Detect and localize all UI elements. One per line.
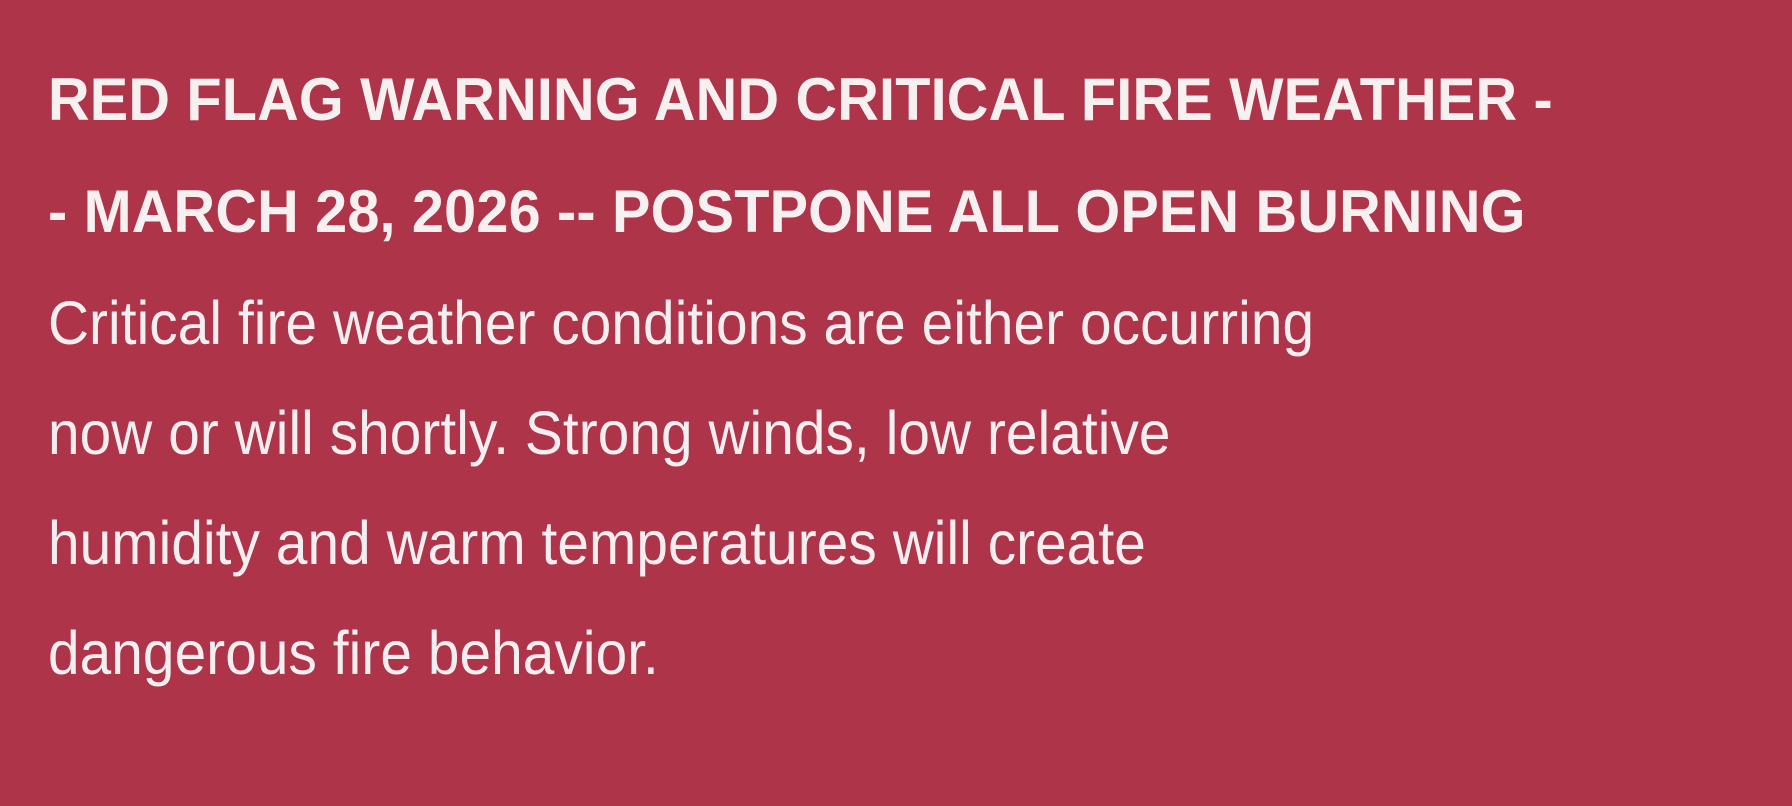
alert-headline-line-2: - MARCH 28, 2026 -- POSTPONE ALL OPEN BU… bbox=[48, 156, 1680, 268]
alert-body-text: Critical fire weather conditions are eit… bbox=[48, 268, 1629, 708]
alert-body-line-2: now or will shortly. Strong winds, low r… bbox=[48, 378, 1629, 488]
alert-body-line-4: dangerous fire behavior. bbox=[48, 598, 1629, 708]
alert-headline-line-1: RED FLAG WARNING AND CRITICAL FIRE WEATH… bbox=[48, 44, 1680, 156]
alert-body-line-1: Critical fire weather conditions are eit… bbox=[48, 268, 1629, 378]
alert-body-line-3: humidity and warm temperatures will crea… bbox=[48, 488, 1629, 598]
red-flag-warning-banner: RED FLAG WARNING AND CRITICAL FIRE WEATH… bbox=[0, 0, 1792, 806]
alert-headline: RED FLAG WARNING AND CRITICAL FIRE WEATH… bbox=[48, 44, 1680, 268]
